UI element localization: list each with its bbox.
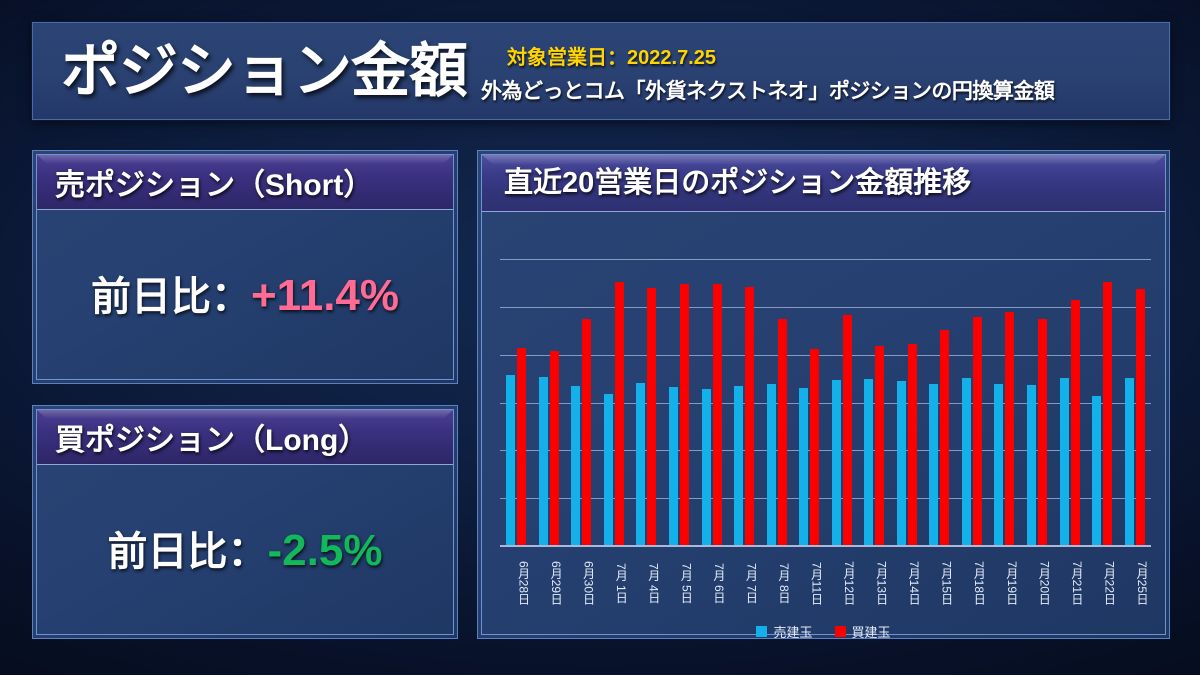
long-change-row: 前日比：-2.5% (108, 519, 383, 577)
bar-group (500, 260, 533, 545)
bar-group (565, 260, 598, 545)
bar-group (663, 260, 696, 545)
bar-sell (1125, 378, 1134, 545)
x-axis-tick-label: 7月 6日 (695, 549, 728, 615)
short-panel-body: 前日比：+11.4% (37, 210, 453, 376)
bar-buy (647, 288, 656, 545)
long-change-label: 前日比： (108, 530, 268, 574)
short-panel-header: 売ポジション（Short） (37, 155, 453, 210)
bar-sell (897, 381, 906, 545)
bar-buy (810, 349, 819, 545)
x-axis-tick-label: 7月15日 (923, 549, 956, 615)
bar-buy (615, 282, 624, 545)
long-panel-header: 買ポジション（Long） (37, 410, 453, 465)
bar-sell (994, 384, 1003, 545)
bar-group (1053, 260, 1086, 545)
chart-legend: 売建玉買建玉 (482, 620, 1165, 642)
bar-group (760, 260, 793, 545)
bar-sell (832, 380, 841, 545)
x-axis-labels: 6月28日6月29日6月30日7月 1日7月 4日7月 5日7月 6日7月 7日… (500, 549, 1151, 615)
legend-item[interactable]: 売建玉 (756, 622, 812, 641)
bar-sell (506, 375, 515, 545)
bar-series-container (500, 260, 1151, 545)
bar-buy (1005, 312, 1014, 545)
short-panel-frame: 売ポジション（Short） 前日比：+11.4% (36, 154, 454, 380)
x-axis-tick-label: 7月 5日 (663, 549, 696, 615)
short-change-row: 前日比：+11.4% (91, 264, 399, 322)
chart-panel-frame: 直近20営業日のポジション金額推移 6月28日6月29日6月30日7月 1日7月… (481, 154, 1166, 635)
x-axis-tick-label: 7月14日 (891, 549, 924, 615)
bar-group (956, 260, 989, 545)
bar-sell (539, 377, 548, 545)
x-axis-tick-label: 6月30日 (565, 549, 598, 615)
x-axis-tick-label: 7月12日 (825, 549, 858, 615)
bar-group (1086, 260, 1119, 545)
bar-sell (636, 383, 645, 545)
short-change-label: 前日比： (91, 275, 251, 319)
bar-group (598, 260, 631, 545)
slide-root: ポジション金額 対象営業日：2022.7.25 外為どっとコム「外貨ネクストネオ… (0, 0, 1200, 675)
x-axis-tick-label: 7月 4日 (630, 549, 663, 615)
bar-buy (550, 351, 559, 545)
bar-sell (799, 388, 808, 545)
bar-group (1021, 260, 1054, 545)
bar-buy (973, 317, 982, 545)
long-change-value: -2.5% (268, 526, 383, 575)
x-axis-tick-label: 7月 7日 (728, 549, 761, 615)
bar-sell (864, 379, 873, 545)
bar-buy (582, 319, 591, 545)
x-axis-tick-label: 7月13日 (858, 549, 891, 615)
bar-sell (571, 386, 580, 545)
long-panel-body: 前日比：-2.5% (37, 465, 453, 631)
bar-group (825, 260, 858, 545)
bar-sell (929, 384, 938, 545)
header-meta: 対象営業日：2022.7.25 外為どっとコム「外貨ネクストネオ」ポジションの円… (481, 41, 1054, 105)
chart-area: 6月28日6月29日6月30日7月 1日7月 4日7月 5日7月 6日7月 7日… (482, 212, 1165, 631)
bar-group (695, 260, 728, 545)
x-axis-tick-label: 7月18日 (956, 549, 989, 615)
bar-group (891, 260, 924, 545)
x-axis-line (500, 545, 1151, 547)
x-axis-tick-label: 6月29日 (533, 549, 566, 615)
bar-group (988, 260, 1021, 545)
bar-buy (875, 346, 884, 546)
chart-panel: 直近20営業日のポジション金額推移 6月28日6月29日6月30日7月 1日7月… (477, 150, 1170, 639)
chart-title: 直近20営業日のポジション金額推移 (504, 167, 971, 199)
x-axis-tick-label: 7月20日 (1021, 549, 1054, 615)
legend-label: 売建玉 (773, 622, 812, 641)
legend-swatch (835, 626, 846, 637)
long-position-panel: 買ポジション（Long） 前日比：-2.5% (32, 405, 458, 639)
page-title: ポジション金額 (61, 42, 467, 101)
bar-buy (713, 284, 722, 545)
page-header: ポジション金額 対象営業日：2022.7.25 外為どっとコム「外貨ネクストネオ… (32, 22, 1170, 120)
bar-group (858, 260, 891, 545)
short-change-value: +11.4% (251, 271, 399, 320)
bar-buy (517, 348, 526, 545)
bar-buy (843, 315, 852, 545)
long-panel-frame: 買ポジション（Long） 前日比：-2.5% (36, 409, 454, 635)
bar-buy (1071, 300, 1080, 545)
short-panel-title: 売ポジション（Short） (55, 160, 373, 204)
bar-buy (1136, 289, 1145, 546)
legend-swatch (756, 626, 767, 637)
x-axis-tick-label: 7月22日 (1086, 549, 1119, 615)
x-axis-tick-label: 7月 1日 (598, 549, 631, 615)
bar-group (533, 260, 566, 545)
bar-group (923, 260, 956, 545)
x-axis-tick-label: 7月25日 (1118, 549, 1151, 615)
target-business-date: 対象営業日：2022.7.25 (507, 41, 1054, 70)
bar-group (1118, 260, 1151, 545)
legend-item[interactable]: 買建玉 (835, 622, 891, 641)
header-subtitle: 外為どっとコム「外貨ネクストネオ」ポジションの円換算金額 (481, 75, 1054, 105)
bar-sell (604, 394, 613, 545)
x-axis-tick-label: 7月21日 (1053, 549, 1086, 615)
x-axis-tick-label: 7月 8日 (760, 549, 793, 615)
bar-buy (940, 330, 949, 545)
x-axis-tick-label: 7月19日 (988, 549, 1021, 615)
bar-sell (1092, 396, 1101, 545)
bar-group (630, 260, 663, 545)
bar-buy (1038, 319, 1047, 545)
bar-sell (1027, 385, 1036, 545)
x-axis-tick-label: 6月28日 (500, 549, 533, 615)
short-position-panel: 売ポジション（Short） 前日比：+11.4% (32, 150, 458, 384)
bar-buy (778, 319, 787, 545)
bar-buy (1103, 282, 1112, 545)
bar-buy (908, 344, 917, 545)
bar-sell (767, 384, 776, 545)
legend-label: 買建玉 (852, 622, 891, 641)
x-axis-tick-label: 7月11日 (793, 549, 826, 615)
bar-buy (745, 287, 754, 545)
bar-sell (962, 378, 971, 545)
bar-group (728, 260, 761, 545)
long-panel-title: 買ポジション（Long） (55, 415, 368, 459)
bar-sell (702, 389, 711, 545)
plot-region (500, 260, 1151, 547)
chart-panel-header: 直近20営業日のポジション金額推移 (482, 155, 1165, 212)
bar-sell (734, 386, 743, 545)
bar-buy (680, 284, 689, 545)
bar-sell (669, 387, 678, 545)
bar-sell (1060, 378, 1069, 545)
bar-group (793, 260, 826, 545)
